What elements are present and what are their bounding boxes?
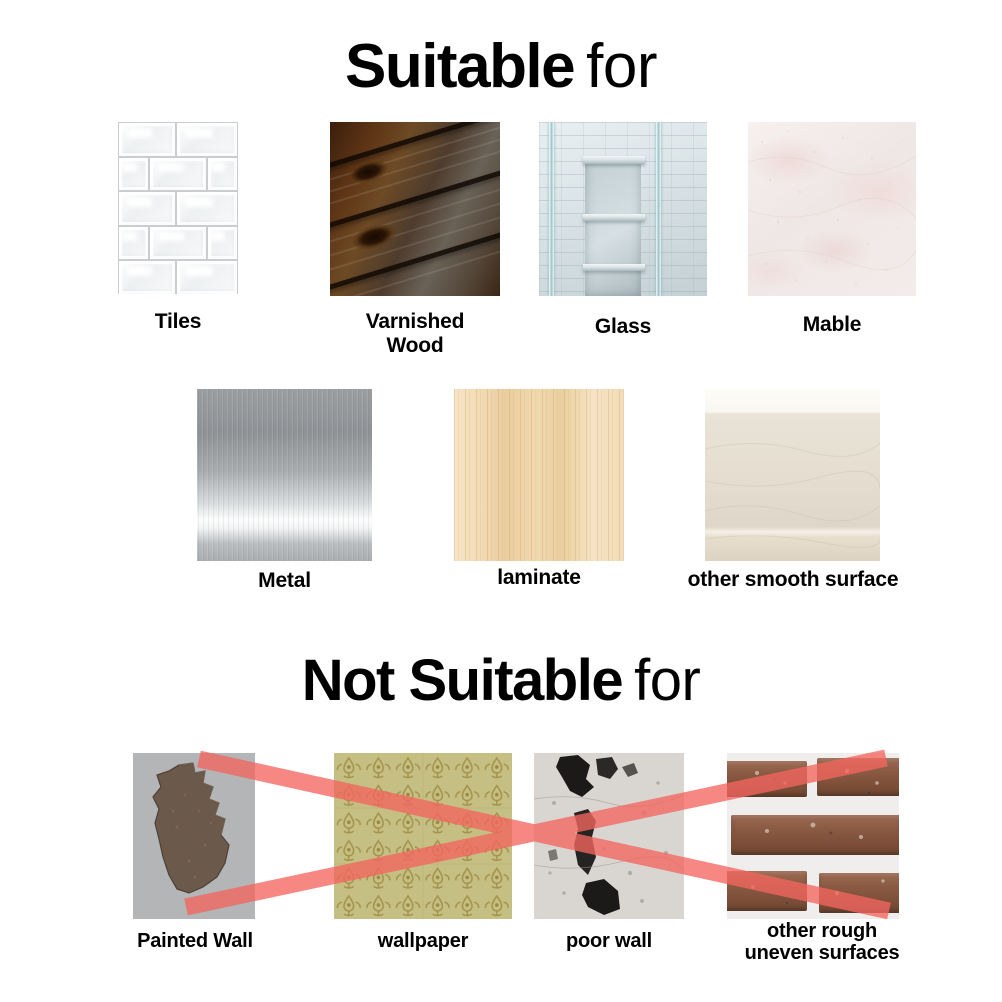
label-poorwall-line1: poor wall (534, 930, 684, 952)
label-wood-line2: Wood (330, 334, 500, 358)
brick-mortar-speckle (727, 753, 899, 919)
label-painted-wall: Painted Wall (110, 930, 280, 952)
label-metal-line1: Metal (197, 569, 372, 593)
label-wallpaper-line1: wallpaper (334, 930, 512, 952)
heading-bold-not-suitable: Not Suitable (302, 648, 622, 713)
image-metal (197, 389, 372, 561)
image-wallpaper (334, 753, 512, 919)
image-other-smooth-surface (705, 389, 880, 561)
heading-light-for-2: for (634, 648, 700, 713)
heading-bold-suitable: Suitable (345, 32, 574, 101)
page-title-not-suitable: Not Suitablefor (0, 652, 1002, 710)
label-wood-line1: Varnished (330, 310, 500, 334)
page-title-suitable: Suitablefor (0, 36, 1002, 98)
label-metal: Metal (197, 569, 372, 593)
label-tiles: Tiles (118, 310, 238, 334)
peeling-paint-patch (133, 753, 255, 919)
label-other-rough-uneven-surfaces: other rough uneven surfaces (727, 920, 917, 965)
label-wallpaper: wallpaper (334, 930, 512, 952)
image-glass (539, 122, 707, 296)
label-marble: Mable (748, 313, 916, 337)
label-marble-line1: Mable (748, 313, 916, 337)
label-laminate-line1: laminate (454, 566, 624, 590)
image-laminate (454, 389, 624, 561)
image-tiles (118, 122, 238, 294)
label-poor-wall: poor wall (534, 930, 684, 952)
damask-pattern (334, 753, 512, 919)
label-rough-line2: uneven surfaces (727, 942, 917, 964)
label-glass: Glass (539, 315, 707, 339)
label-other-smooth-surface: other smooth surface (660, 568, 926, 592)
label-tiles-line1: Tiles (118, 310, 238, 334)
damaged-concrete-texture (534, 753, 684, 919)
smooth-surface-veins (705, 389, 880, 561)
label-rough-line1: other rough (727, 920, 917, 942)
image-poor-wall (534, 753, 684, 919)
image-marble (748, 122, 916, 296)
image-varnished-wood (330, 122, 500, 296)
label-laminate: laminate (454, 566, 624, 590)
marble-speckle-texture (748, 122, 916, 296)
image-brick-wall (727, 753, 899, 919)
label-smooth-line1: other smooth surface (660, 568, 926, 592)
infographic-page: Suitablefor (0, 0, 1002, 1002)
label-varnished-wood: Varnished Wood (330, 310, 500, 357)
image-painted-wall (133, 753, 255, 919)
label-glass-line1: Glass (539, 315, 707, 339)
heading-light-for: for (586, 32, 657, 101)
label-painted-line1: Painted Wall (110, 930, 280, 952)
